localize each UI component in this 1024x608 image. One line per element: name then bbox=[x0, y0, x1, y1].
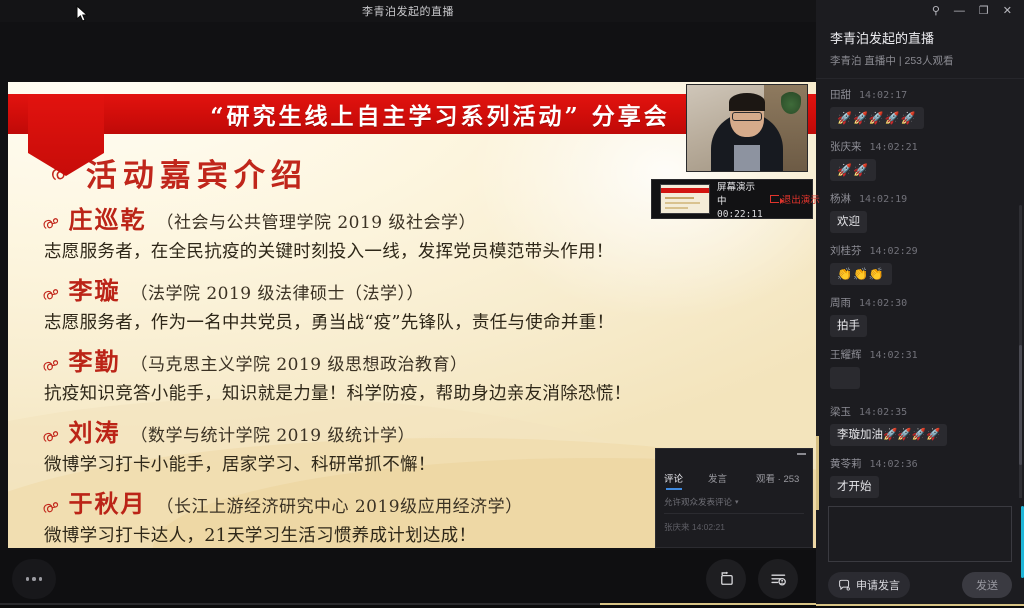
guest-name: 李璇 bbox=[68, 271, 120, 306]
guest-meta: （马克思主义学院 2019 级思想政治教育） bbox=[130, 350, 467, 375]
live-stream-window: 李青泊发起的直播 “研究生线上自主学习系列活动” 分享会 ൙ 活动嘉宾介绍 ൙ … bbox=[0, 0, 1024, 608]
chat-message: 张庆来 14:02:21 🚀🚀 bbox=[830, 139, 1010, 181]
chat-message-header: 杨淋 14:02:19 bbox=[830, 191, 1010, 206]
chat-message-header: 黄苓莉 14:02:36 bbox=[830, 456, 1010, 471]
send-button[interactable]: 发送 bbox=[962, 572, 1012, 598]
tab-comments[interactable]: 评论 bbox=[664, 471, 708, 490]
floating-panel-tabs: 评论 发言 观看 · 253 bbox=[656, 449, 812, 490]
chat-sidebar: ⚲ — ❐ ✕ 李青泊发起的直播 李青泊 直播中 | 253人观看 田甜 14:… bbox=[816, 0, 1024, 608]
chat-username: 刘桂芬 bbox=[830, 243, 862, 258]
chat-username: 张庆来 bbox=[830, 139, 862, 154]
maximize-icon[interactable]: ❐ bbox=[979, 6, 989, 17]
chevron-down-icon: ▾ bbox=[735, 498, 739, 506]
chat-message: 刘桂芬 14:02:29 👏👏👏 bbox=[830, 243, 1010, 285]
bottom-toolbar bbox=[0, 550, 816, 608]
ellipsis-icon bbox=[26, 577, 43, 581]
swirl-icon: ൙ bbox=[41, 286, 59, 303]
speech-bubble-icon bbox=[838, 579, 851, 592]
chat-compose-area: 申请发言 发送 bbox=[816, 498, 1024, 608]
chat-timestamp: 14:02:31 bbox=[870, 350, 918, 361]
presenter-shirt bbox=[734, 145, 760, 171]
exit-share-button[interactable]: 退出演示 bbox=[770, 192, 820, 206]
sidebar-header: 李青泊发起的直播 李青泊 直播中 | 253人观看 bbox=[816, 22, 1024, 78]
chat-bubble: 欢迎 bbox=[830, 211, 867, 233]
chat-message: 周雨 14:02:30 拍手 bbox=[830, 295, 1010, 337]
swirl-icon: ൙ bbox=[41, 499, 59, 516]
presenter-video-tile[interactable] bbox=[686, 84, 808, 172]
guest-description: 志愿服务者，作为一名中共党员，勇当战“疫”先锋队，责任与使命并重！ bbox=[44, 309, 790, 334]
share-screen-button[interactable] bbox=[706, 559, 746, 599]
screen-share-text: 屏幕演示中 00:22:11 bbox=[717, 179, 763, 220]
minimize-icon[interactable]: — bbox=[954, 6, 965, 17]
chat-message-header: 周雨 14:02:30 bbox=[830, 295, 1010, 310]
window-controls: ⚲ — ❐ ✕ bbox=[816, 0, 1024, 22]
chat-username: 杨淋 bbox=[830, 191, 851, 206]
request-to-speak-button[interactable]: 申请发言 bbox=[828, 572, 910, 598]
chat-bubble: 🚀🚀🚀🚀🚀 bbox=[830, 107, 924, 129]
guest-header: ൙ 李璇 （法学院 2019 级法律硕士（法学）） bbox=[42, 271, 790, 306]
participants-button[interactable] bbox=[758, 559, 798, 599]
close-icon[interactable]: ✕ bbox=[1003, 6, 1012, 17]
sidebar-subtitle: 李青泊 直播中 | 253人观看 bbox=[830, 53, 1010, 68]
guest-name: 庄巡乾 bbox=[68, 200, 146, 235]
chat-timestamp: 14:02:17 bbox=[859, 90, 907, 101]
chat-message-header: 张庆来 14:02:21 bbox=[830, 139, 1010, 154]
chat-timestamp: 14:02:35 bbox=[859, 407, 907, 418]
allow-comments-label: 允许观众发表评论 bbox=[664, 496, 732, 508]
chat-username: 梁玉 bbox=[830, 404, 851, 419]
floating-comments-panel[interactable]: 评论 发言 观看 · 253 允许观众发表评论 ▾ 张庆来 14:02:21 bbox=[655, 448, 813, 548]
request-to-speak-label: 申请发言 bbox=[856, 577, 900, 593]
allow-comments-setting[interactable]: 允许观众发表评论 ▾ bbox=[656, 490, 812, 508]
guest-meta: （长江上游经济研究中心 2019级应用经济学） bbox=[156, 492, 522, 517]
screen-share-thumbnail bbox=[660, 184, 710, 214]
chat-bubble: 才开始 bbox=[830, 476, 879, 498]
slide-banner-title: “研究生线上自主学习系列活动” 分享会 bbox=[210, 97, 669, 131]
sidebar-title: 李青泊发起的直播 bbox=[830, 28, 1010, 47]
chat-message-header: 梁玉 14:02:35 bbox=[830, 404, 1010, 419]
swirl-icon: ൙ bbox=[41, 428, 59, 445]
tab-speak[interactable]: 发言 bbox=[708, 471, 756, 490]
guest-name: 李勤 bbox=[68, 342, 120, 377]
plant-icon bbox=[781, 90, 801, 114]
share-screen-icon bbox=[717, 570, 736, 589]
exit-share-label: 退出演示 bbox=[782, 192, 820, 206]
chat-username: 王耀辉 bbox=[830, 347, 862, 362]
chat-input[interactable] bbox=[828, 506, 1012, 562]
floating-panel-preview-message: 张庆来 14:02:21 bbox=[656, 514, 812, 533]
chat-bubble: 李璇加油🚀🚀🚀🚀 bbox=[830, 424, 947, 446]
screen-share-status: 屏幕演示中 bbox=[717, 179, 763, 207]
sidebar-scrollbar[interactable] bbox=[1019, 205, 1022, 498]
chat-timestamp: 14:02:29 bbox=[870, 246, 918, 257]
mouse-cursor-icon bbox=[76, 5, 89, 23]
guest-name: 刘涛 bbox=[68, 413, 120, 448]
guest-description: 志愿服务者，在全民抗疫的关键时刻投入一线，发挥党员模范带头作用！ bbox=[44, 238, 790, 263]
divider bbox=[816, 78, 1024, 79]
strip-segment-dark bbox=[0, 603, 600, 605]
window-titlebar: 李青泊发起的直播 bbox=[0, 0, 816, 22]
chat-message-header: 王耀辉 14:02:31 bbox=[830, 347, 1010, 362]
guest-meta: （数学与统计学院 2019 级统计学） bbox=[130, 421, 415, 446]
participants-list-icon bbox=[769, 570, 788, 589]
chat-timestamp: 14:02:21 bbox=[870, 142, 918, 153]
guest-meta: （社会与公共管理学院 2019 级社会学） bbox=[156, 208, 476, 233]
window-title: 李青泊发起的直播 bbox=[362, 3, 454, 19]
sidebar-bottom-strip bbox=[816, 604, 1024, 608]
pin-icon[interactable]: ⚲ bbox=[932, 6, 940, 17]
chat-message-header: 田甜 14:02:17 bbox=[830, 87, 1010, 102]
slide-headline-text: 活动嘉宾介绍 bbox=[86, 150, 308, 195]
glasses-icon bbox=[732, 112, 762, 121]
chat-message-list[interactable]: 田甜 14:02:17 🚀🚀🚀🚀🚀 张庆来 14:02:21 🚀🚀 杨淋 14:… bbox=[816, 85, 1024, 498]
guest-header: ൙ 李勤 （马克思主义学院 2019 级思想政治教育） bbox=[42, 342, 790, 377]
screen-share-elapsed: 00:22:11 bbox=[717, 209, 763, 220]
chat-bubble: 🚀🚀 bbox=[830, 159, 876, 181]
bottom-progress-strip[interactable] bbox=[0, 603, 816, 608]
swirl-icon: ൙ bbox=[41, 215, 59, 232]
guest-name: 于秋月 bbox=[68, 484, 146, 519]
chat-username: 黄苓莉 bbox=[830, 456, 862, 471]
scrollbar-thumb[interactable] bbox=[1019, 345, 1022, 465]
chat-timestamp: 14:02:30 bbox=[859, 298, 907, 309]
exit-icon bbox=[770, 195, 779, 203]
guest-meta: （法学院 2019 级法律硕士（法学）） bbox=[130, 279, 424, 304]
minimize-icon[interactable] bbox=[797, 453, 806, 455]
chat-message: 田甜 14:02:17 🚀🚀🚀🚀🚀 bbox=[830, 87, 1010, 129]
chat-timestamp: 14:02:36 bbox=[870, 459, 918, 470]
toolbar-right-group bbox=[706, 559, 798, 599]
chat-message-header: 刘桂芬 14:02:29 bbox=[830, 243, 1010, 258]
chat-timestamp: 14:02:19 bbox=[859, 194, 907, 205]
main-stage: 李青泊发起的直播 “研究生线上自主学习系列活动” 分享会 ൙ 活动嘉宾介绍 ൙ … bbox=[0, 0, 816, 608]
guest-header: ൙ 刘涛 （数学与统计学院 2019 级统计学） bbox=[42, 413, 790, 448]
chat-username: 田甜 bbox=[830, 87, 851, 102]
chat-message: 梁玉 14:02:35 李璇加油🚀🚀🚀🚀 bbox=[830, 404, 1010, 446]
guest-entry: ൙ 李璇 （法学院 2019 级法律硕士（法学）） 志愿服务者，作为一名中共党员… bbox=[42, 271, 790, 334]
chat-bubble bbox=[830, 367, 860, 389]
gold-edge-accent bbox=[816, 436, 819, 510]
chat-username: 周雨 bbox=[830, 295, 851, 310]
chat-message: 黄苓莉 14:02:36 才开始 bbox=[830, 456, 1010, 498]
guest-entry: ൙ 李勤 （马克思主义学院 2019 级思想政治教育） 抗疫知识竞答小能手，知识… bbox=[42, 342, 790, 405]
chat-bubble: 👏👏👏 bbox=[830, 263, 892, 285]
swirl-icon: ൙ bbox=[41, 357, 59, 374]
chat-actions: 申请发言 发送 bbox=[828, 572, 1012, 598]
strip-segment-gold bbox=[600, 603, 816, 605]
guest-description: 抗疫知识竞答小能手，知识就是力量！科学防疫，帮助身边亲友消除恐慌！ bbox=[44, 380, 790, 405]
chat-bubble: 拍手 bbox=[830, 315, 867, 337]
chat-message: 王耀辉 14:02:31 bbox=[830, 347, 1010, 394]
screen-share-status-bar[interactable]: 屏幕演示中 00:22:11 退出演示 bbox=[651, 179, 813, 219]
presenter-hair bbox=[729, 93, 765, 111]
chat-message: 杨淋 14:02:19 欢迎 bbox=[830, 191, 1010, 233]
tab-viewers[interactable]: 观看 · 253 bbox=[756, 471, 799, 490]
more-options-button[interactable] bbox=[12, 559, 56, 599]
